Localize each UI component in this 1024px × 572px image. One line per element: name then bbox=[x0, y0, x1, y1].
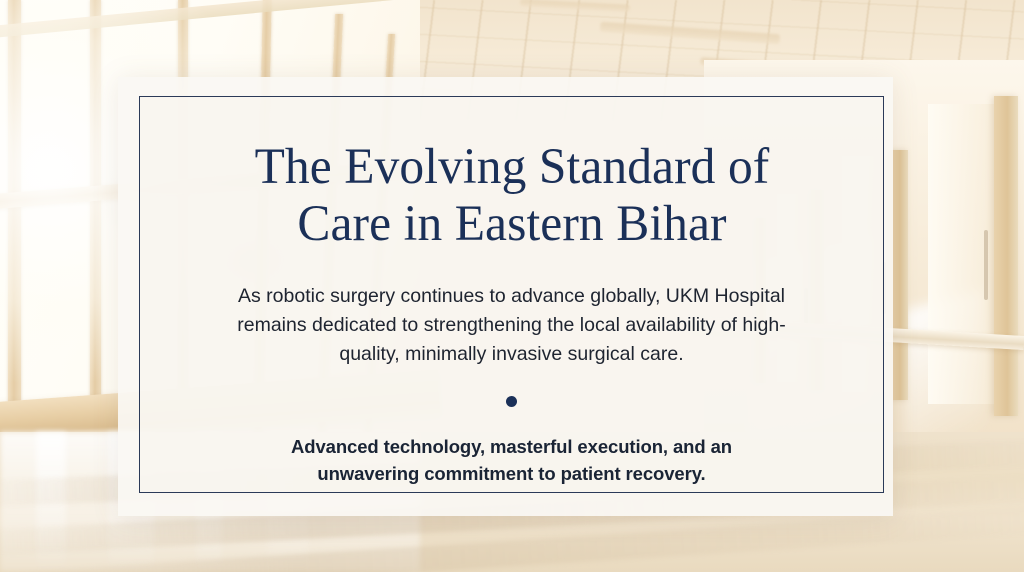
content-card-inner-border: The Evolving Standard of Care in Eastern… bbox=[139, 96, 884, 493]
door-handle bbox=[984, 230, 988, 300]
body-paragraph: As robotic surgery continues to advance … bbox=[217, 282, 807, 369]
dot-divider-icon bbox=[506, 396, 517, 407]
closing-statement: Advanced technology, masterful execution… bbox=[239, 433, 784, 487]
slide-stage: The Evolving Standard of Care in Eastern… bbox=[0, 0, 1024, 572]
door-frame bbox=[994, 96, 1018, 416]
page-title: The Evolving Standard of Care in Eastern… bbox=[221, 139, 803, 253]
content-card: The Evolving Standard of Care in Eastern… bbox=[118, 77, 893, 516]
content-card-body: The Evolving Standard of Care in Eastern… bbox=[140, 97, 883, 492]
